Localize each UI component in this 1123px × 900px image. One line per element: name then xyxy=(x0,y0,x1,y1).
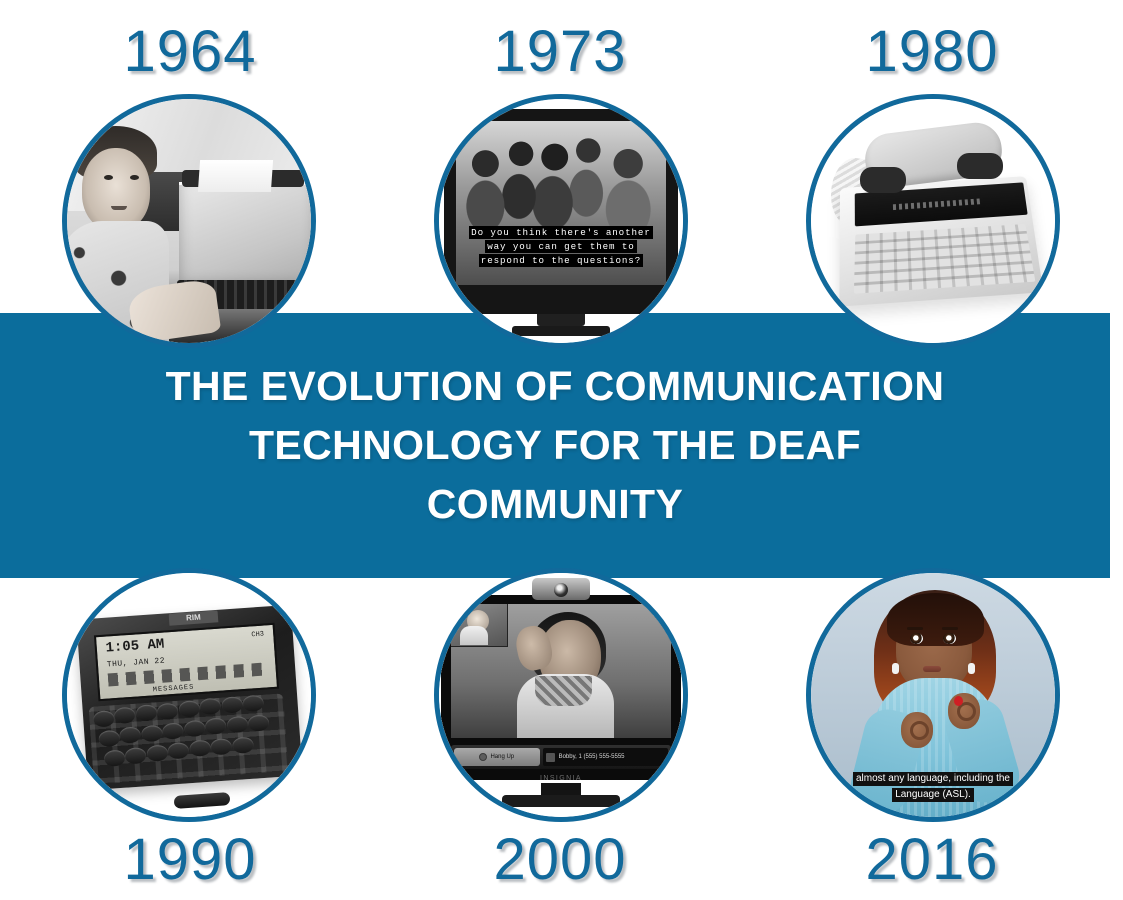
flatscreen-television: Hang Up Bobby, 1 (555) 555-5555 INSIGNIA xyxy=(441,595,680,780)
poster-title: THE EVOLUTION OF COMMUNICATION TECHNOLOG… xyxy=(0,313,1110,578)
photo-tdd-text-telephone xyxy=(811,99,1055,343)
avatar-signing-hand-right xyxy=(948,693,980,729)
pager-date: THU, JAN 22 xyxy=(107,656,166,669)
tv-brand-logo: INSIGNIA xyxy=(528,775,595,782)
video-call-feed xyxy=(451,604,671,738)
caller-label: Bobby, 1 (555) 555-5555 xyxy=(559,754,625,760)
pager-lcd-screen: 1:05 AM CH3 THU, JAN 22 MESSAGES xyxy=(94,623,279,701)
poster-title-line-1: THE EVOLUTION OF COMMUNICATION xyxy=(166,357,945,416)
poster-title-line-2: TECHNOLOGY FOR THE DEAF xyxy=(249,416,861,475)
photo-frame-1973: Do you think there's another way you can… xyxy=(439,99,683,343)
infographic-poster: 1964 1973 1980 THE EVOLUTION OF COMMUNIC… xyxy=(0,0,1123,900)
picture-in-picture-self-view xyxy=(451,604,508,647)
caption-line-2: Language (ASL). xyxy=(892,788,974,802)
pager-key xyxy=(248,715,270,732)
television-body: Do you think there's another way you can… xyxy=(444,109,678,314)
pager-status: CH3 xyxy=(251,631,264,640)
avatar-fingernail-accent xyxy=(954,696,963,706)
avatar-eye-left xyxy=(910,633,923,644)
pager-key xyxy=(125,747,147,764)
timeline-photo-1964 xyxy=(62,94,316,348)
pager-key xyxy=(227,716,249,733)
television-neck xyxy=(537,314,586,326)
pager-time: 1:05 AM xyxy=(105,636,165,656)
timeline-photo-2000: Hang Up Bobby, 1 (555) 555-5555 INSIGNIA xyxy=(434,568,688,822)
timeline-photo-1973: Do you think there's another way you can… xyxy=(434,94,688,348)
photo-frame-1990: RIM 1:05 AM CH3 THU, JAN 22 MESSAGES xyxy=(67,573,311,817)
teletype-paper xyxy=(198,160,273,192)
hang-up-icon xyxy=(479,753,487,761)
pager-menu-label: MESSAGES xyxy=(153,683,195,694)
pager-key xyxy=(200,698,222,715)
avatar-eye-right xyxy=(943,633,956,644)
webcam-icon xyxy=(532,578,591,600)
pager-key xyxy=(104,750,126,767)
closed-caption-box-2016: almost any language, including the Langu… xyxy=(811,772,1055,802)
pager-key xyxy=(184,720,206,737)
pager-key xyxy=(243,695,265,712)
avatar-signing-hand-left xyxy=(901,712,933,748)
pager-key xyxy=(157,702,179,719)
woman-eye-left xyxy=(104,175,113,180)
avatar-eyebrow-left xyxy=(907,627,923,630)
pager-key xyxy=(141,724,163,741)
photo-frame-1964 xyxy=(67,99,311,343)
avatar-earring-right xyxy=(968,663,975,674)
timeline-photo-2016: almost any language, including the Langu… xyxy=(806,568,1060,822)
photo-captioned-television: Do you think there's another way you can… xyxy=(439,99,683,343)
photo-videophone-call: Hang Up Bobby, 1 (555) 555-5555 INSIGNIA xyxy=(439,573,683,817)
pager-key xyxy=(114,707,136,724)
year-label-1990: 1990 xyxy=(40,826,340,893)
hang-up-button[interactable]: Hang Up xyxy=(454,748,540,766)
acoustic-coupler-left xyxy=(860,167,906,193)
tv-stand-base xyxy=(502,795,619,807)
pager-key xyxy=(189,740,211,757)
television-base xyxy=(512,326,610,336)
timeline-photo-1990: RIM 1:05 AM CH3 THU, JAN 22 MESSAGES xyxy=(62,568,316,822)
caption-line-1: almost any language, including the xyxy=(853,772,1013,786)
caption-line-1: Do you think there's another xyxy=(469,226,653,239)
pager-key xyxy=(221,696,243,713)
pager-key xyxy=(168,742,190,759)
acoustic-coupler-right xyxy=(957,153,1003,179)
avatar-mouth xyxy=(923,666,941,672)
caption-line-3: respond to the questions? xyxy=(479,254,643,267)
avatar-earring-left xyxy=(892,663,899,674)
pager-qwerty-keyboard xyxy=(89,693,289,785)
teletype-machine-body xyxy=(179,182,311,294)
year-label-2016: 2016 xyxy=(782,826,1082,893)
year-label-1964: 1964 xyxy=(40,18,340,85)
pager-key xyxy=(98,730,120,747)
poster-title-line-3: COMMUNITY xyxy=(427,475,683,534)
pip-person-body xyxy=(460,626,488,645)
closed-caption-box-1973: Do you think there's another way you can… xyxy=(462,226,660,267)
television-screen: Do you think there's another way you can… xyxy=(456,121,667,285)
photo-frame-1980 xyxy=(811,99,1055,343)
timeline-photo-1980 xyxy=(806,94,1060,348)
pager-spacebar xyxy=(174,792,231,809)
title-banner: THE EVOLUTION OF COMMUNICATION TECHNOLOG… xyxy=(0,313,1110,578)
pager-key xyxy=(162,722,184,739)
caption-line-2: way you can get them to xyxy=(485,240,637,253)
photo-frame-2016: almost any language, including the Langu… xyxy=(811,573,1055,817)
pager-key xyxy=(146,744,168,761)
photo-woman-with-teletype xyxy=(67,99,311,343)
signer-scarf xyxy=(535,676,592,705)
avatar-hair-top xyxy=(887,593,985,647)
woman-face xyxy=(82,148,150,231)
pager-key xyxy=(211,738,233,755)
pager-key xyxy=(93,710,115,727)
avatar-eyebrow-right xyxy=(942,627,958,630)
year-label-1973: 1973 xyxy=(410,18,710,85)
hang-up-label: Hang Up xyxy=(490,754,514,760)
year-label-1980: 1980 xyxy=(782,18,1082,85)
pager-key xyxy=(120,727,142,744)
videophone-call-bar: Hang Up Bobby, 1 (555) 555-5555 xyxy=(451,745,671,769)
animation-asl-avatar: almost any language, including the Langu… xyxy=(811,573,1055,817)
contact-avatar-icon xyxy=(546,753,555,762)
woman-eye-right xyxy=(130,175,139,180)
caller-info-field: Bobby, 1 (555) 555-5555 xyxy=(543,748,668,766)
photo-frame-2000: Hang Up Bobby, 1 (555) 555-5555 INSIGNIA xyxy=(439,573,683,817)
photo-rim-two-way-pager: RIM 1:05 AM CH3 THU, JAN 22 MESSAGES xyxy=(67,573,311,817)
pager-key xyxy=(136,704,158,721)
pager-key xyxy=(179,700,201,717)
pager-key xyxy=(232,736,254,753)
year-label-2000: 2000 xyxy=(410,826,710,893)
pager-key xyxy=(205,718,227,735)
